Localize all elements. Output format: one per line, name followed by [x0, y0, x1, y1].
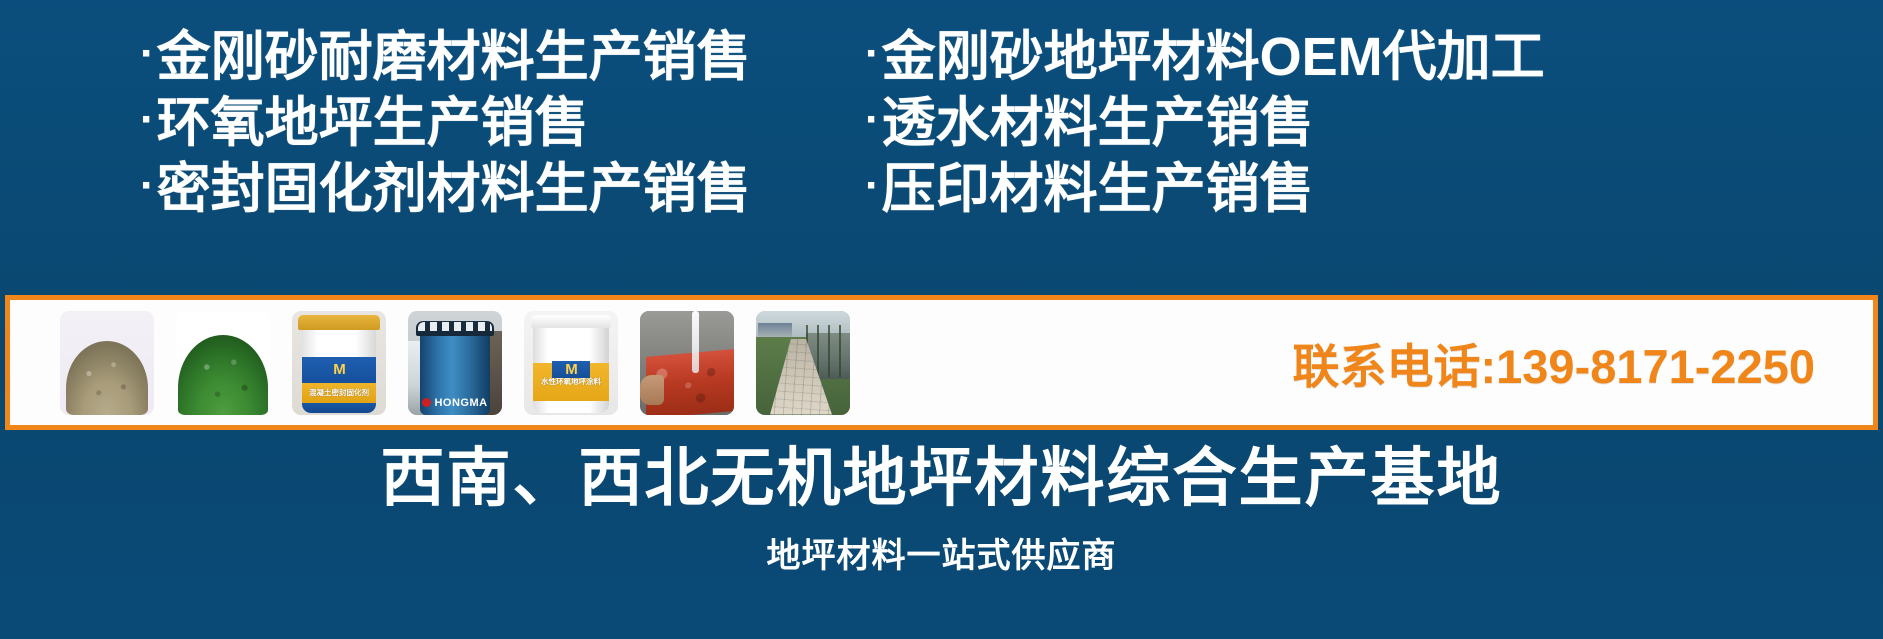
service-label-2: 环氧地坪生产销售	[157, 96, 589, 151]
pail-yellow-band: 混凝土密封固化剂	[302, 383, 376, 403]
service-label-1: 金刚砂耐磨材料生产销售	[157, 30, 751, 85]
service-item-1: · 金刚砂耐磨材料生产销售	[140, 30, 865, 86]
promo-banner: · 金刚砂耐磨材料生产销售 · 环氧地坪生产销售 · 密封固化剂材料生产销售 ·…	[0, 0, 1883, 639]
contact-phone-text[interactable]: 联系电话:139-8171-2250	[1293, 328, 1816, 397]
bullet-dot-icon: ·	[140, 98, 155, 142]
services-bullets: · 金刚砂耐磨材料生产销售 · 环氧地坪生产销售 · 密封固化剂材料生产销售 ·…	[0, 30, 1883, 230]
pail-caption-cn: 混凝土密封固化剂	[309, 387, 369, 398]
product-thumbnail-list: M 混凝土密封固化剂 HONGMA	[10, 311, 850, 415]
pail-lid-shape	[298, 315, 380, 330]
banner-subtitle: 地坪材料一站式供应商	[0, 528, 1883, 577]
product-thumb-sealer-pail: M 混凝土密封固化剂	[292, 311, 386, 415]
service-label-6: 压印材料生产销售	[882, 162, 1314, 217]
brand-m-logo-icon: M	[333, 362, 345, 377]
product-thumb-red-permeable-paving	[640, 311, 734, 415]
pail-caption-cn: 水性环氧地坪涂料	[541, 376, 601, 387]
drum-brand-row: HONGMA	[408, 397, 502, 409]
service-item-2: · 环氧地坪生产销售	[140, 96, 865, 152]
water-stream-shape	[692, 311, 699, 373]
service-label-4: 金刚砂地坪材料OEM代加工	[882, 30, 1545, 85]
pail-lid-shape	[531, 315, 611, 328]
powder-heap-shape	[66, 341, 148, 415]
bullet-dot-icon: ·	[865, 32, 880, 76]
service-item-6: · 压印材料生产销售	[865, 162, 1883, 218]
brand-m-logo-icon: M	[565, 362, 577, 377]
pail-blue-plate: M	[552, 361, 590, 378]
hand-shape	[640, 375, 664, 405]
powder-heap-shape	[178, 335, 268, 415]
bullet-dot-icon: ·	[865, 98, 880, 142]
product-thumb-grey-abrasive-powder	[60, 311, 154, 415]
contact-block: 联系电话:139-8171-2250	[1293, 328, 1874, 397]
pail-foot-shape	[302, 403, 376, 413]
product-strip: M 混凝土密封固化剂 HONGMA	[5, 295, 1878, 430]
service-label-3: 密封固化剂材料生产销售	[157, 162, 751, 217]
bullet-dot-icon: ·	[865, 164, 880, 208]
hongma-mark-icon	[422, 398, 431, 407]
product-thumb-hongma-drum: HONGMA	[408, 311, 502, 415]
service-item-3: · 密封固化剂材料生产销售	[140, 162, 865, 218]
footer-text-block: 西南、西北无机地坪材料综合生产基地 地坪材料一站式供应商	[0, 445, 1883, 577]
banner-headline: 西南、西北无机地坪材料综合生产基地	[0, 445, 1883, 512]
product-thumb-epoxy-paint-pail: 水性环氧地坪涂料 M	[524, 311, 618, 415]
product-thumb-stamped-walkway	[756, 311, 850, 415]
service-item-4: · 金刚砂地坪材料OEM代加工	[865, 30, 1883, 86]
service-label-5: 透水材料生产销售	[882, 96, 1314, 151]
hongma-brand-text: HONGMA	[434, 397, 487, 409]
bullet-dot-icon: ·	[140, 32, 155, 76]
product-thumb-green-abrasive-powder	[176, 311, 270, 415]
drum-clips-shape	[418, 322, 492, 331]
service-item-5: · 透水材料生产销售	[865, 96, 1883, 152]
pail-blue-band: M	[302, 357, 376, 383]
bullet-dot-icon: ·	[140, 164, 155, 208]
services-left-column: · 金刚砂耐磨材料生产销售 · 环氧地坪生产销售 · 密封固化剂材料生产销售	[0, 30, 865, 230]
services-right-column: · 金刚砂地坪材料OEM代加工 · 透水材料生产销售 · 压印材料生产销售	[865, 30, 1883, 230]
